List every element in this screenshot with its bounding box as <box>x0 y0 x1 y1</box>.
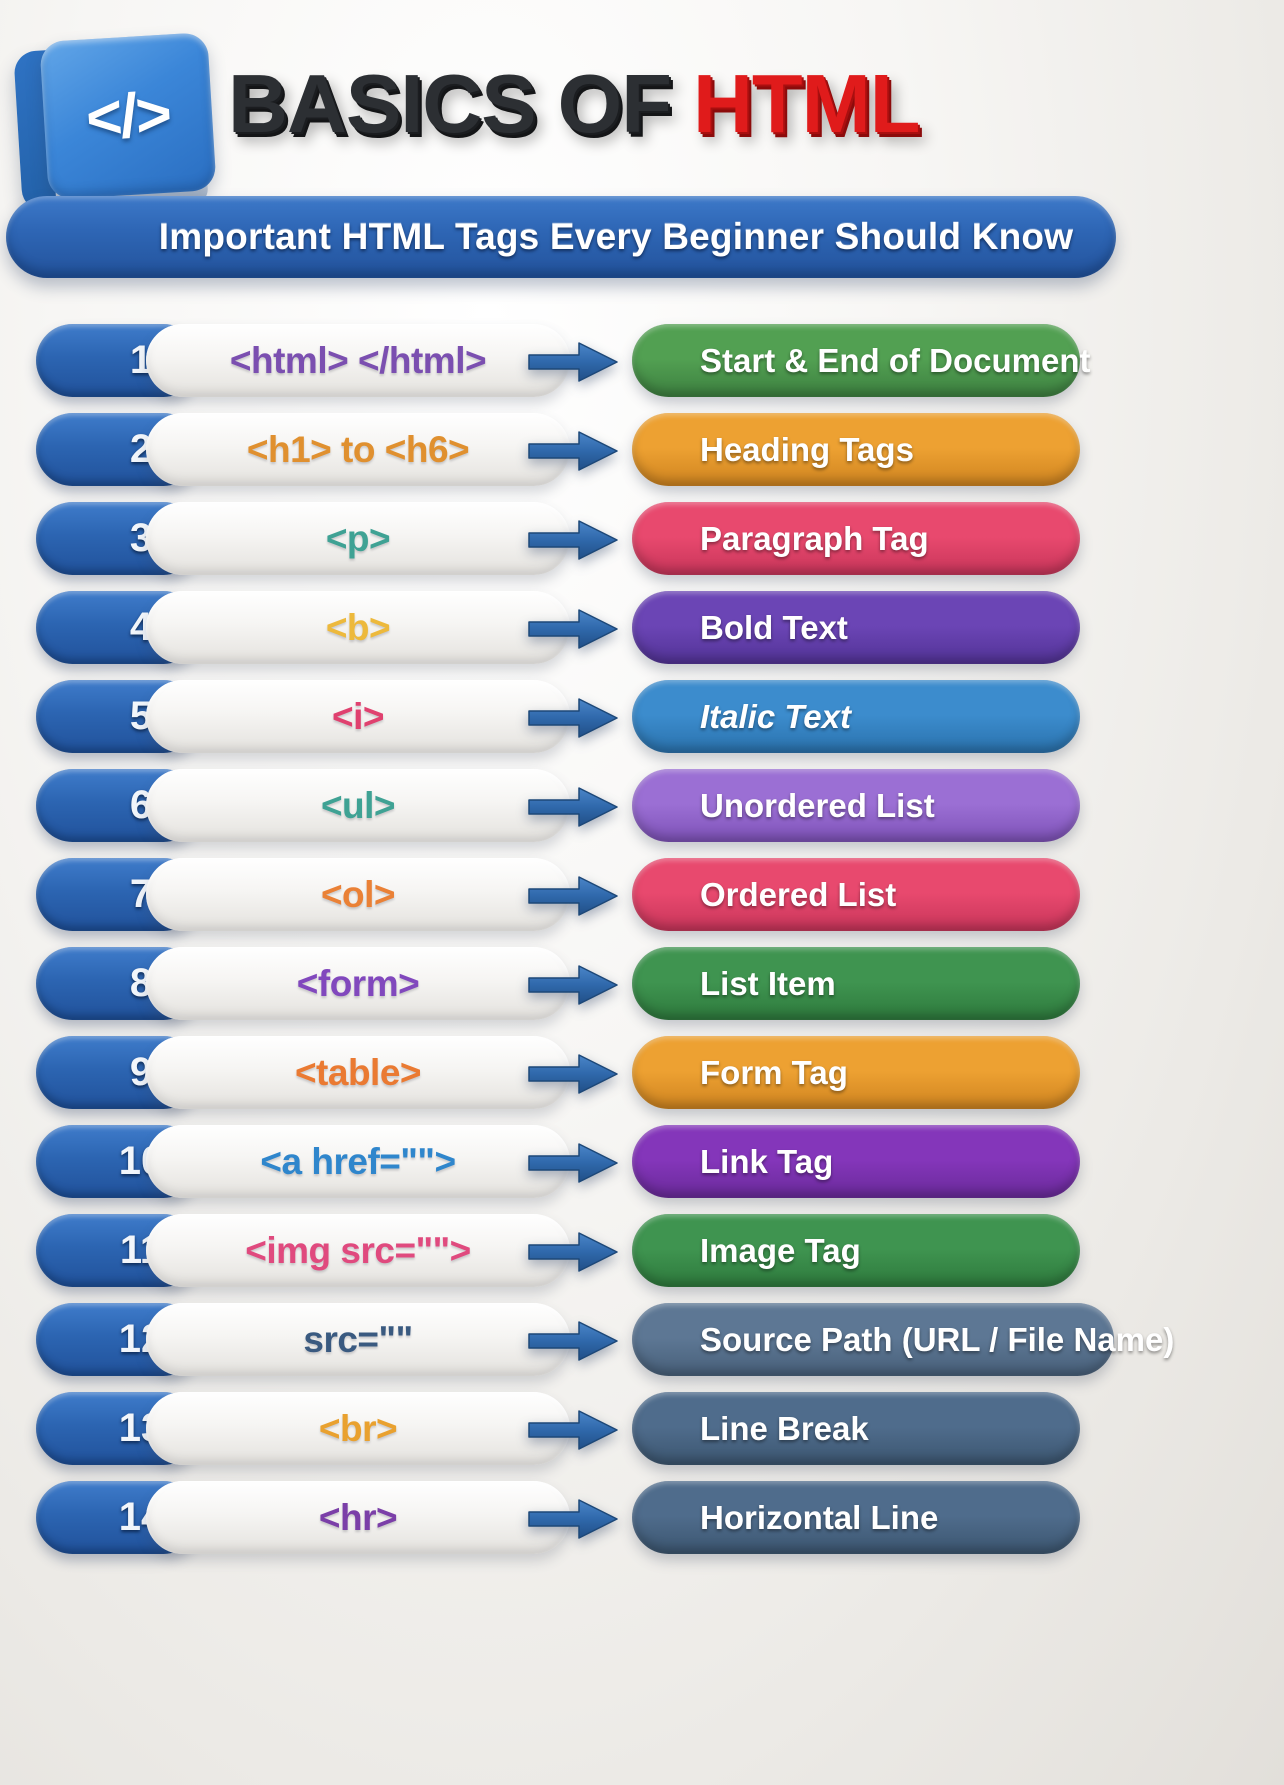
arrow-right-icon <box>527 1319 619 1363</box>
tag-row: 4<b>Bold Text <box>0 585 1284 674</box>
tag-code-text: <br> <box>319 1408 397 1450</box>
tag-description-pill[interactable]: List Item <box>632 947 1080 1020</box>
tag-description-pill[interactable]: Bold Text <box>632 591 1080 664</box>
tag-description-pill[interactable]: Paragraph Tag <box>632 502 1080 575</box>
tag-description-text: Link Tag <box>632 1143 833 1181</box>
arrow-right-icon <box>527 1141 619 1185</box>
tag-description-text: Heading Tags <box>632 431 914 469</box>
tag-description-pill[interactable]: Heading Tags <box>632 413 1080 486</box>
arrow-right-icon <box>527 963 619 1007</box>
tag-code-text: <img src=""> <box>245 1230 471 1272</box>
tag-code-pill[interactable]: <form> <box>146 947 570 1020</box>
arrow-right-icon <box>527 607 619 651</box>
tag-code-pill[interactable]: <html> </html> <box>146 324 570 397</box>
tag-row: 1<html> </html>Start & End of Document <box>0 318 1284 407</box>
tag-code-pill[interactable]: <a href=""> <box>146 1125 570 1198</box>
subtitle-banner: Important HTML Tags Every Beginner Shoul… <box>6 196 1116 278</box>
tag-code-text: <ul> <box>321 785 395 827</box>
arrow-right-icon <box>527 1408 619 1452</box>
row-number-text: 8 <box>84 961 152 1006</box>
arrow-right-icon <box>527 1497 619 1541</box>
tag-code-text: <i> <box>332 696 384 738</box>
tag-code-text: <p> <box>326 518 390 560</box>
row-number-text: 4 <box>84 605 152 650</box>
tag-code-pill[interactable]: <ul> <box>146 769 570 842</box>
tag-description-pill[interactable]: Italic Text <box>632 680 1080 753</box>
tag-row: 13<br>Line Break <box>0 1386 1284 1475</box>
tag-description-pill[interactable]: Line Break <box>632 1392 1080 1465</box>
tag-code-pill[interactable]: <br> <box>146 1392 570 1465</box>
title-basics-of: BASICS OF <box>228 57 693 150</box>
code-book-icon: </> <box>18 33 214 218</box>
tag-code-text: <a href=""> <box>260 1141 455 1183</box>
arrow-right-icon <box>527 1230 619 1274</box>
tag-row: 10<a href="">Link Tag <box>0 1119 1284 1208</box>
tag-description-pill[interactable]: Ordered List <box>632 858 1080 931</box>
arrow-right-icon <box>527 874 619 918</box>
tag-list: 1<html> </html>Start & End of Document2<… <box>0 318 1284 1564</box>
tag-row: 8<form>List Item <box>0 941 1284 1030</box>
tag-code-pill[interactable]: src="" <box>146 1303 570 1376</box>
header: </> BASICS OF HTML Important HTML Tags E… <box>0 0 1284 300</box>
tag-code-pill[interactable]: <table> <box>146 1036 570 1109</box>
tag-description-text: Line Break <box>632 1410 869 1448</box>
tag-code-pill[interactable]: <hr> <box>146 1481 570 1554</box>
arrow-right-icon <box>527 696 619 740</box>
tag-row: 2<h1> to <h6>Heading Tags <box>0 407 1284 496</box>
tag-code-text: <html> </html> <box>230 340 486 382</box>
tag-description-text: Ordered List <box>632 876 896 914</box>
tag-code-pill[interactable]: <ol> <box>146 858 570 931</box>
code-glyph: </> <box>39 32 216 200</box>
tag-code-text: <b> <box>326 607 390 649</box>
tag-code-pill[interactable]: <i> <box>146 680 570 753</box>
tag-row: 9<table>Form Tag <box>0 1030 1284 1119</box>
tag-code-pill[interactable]: <b> <box>146 591 570 664</box>
row-number-text: 5 <box>84 694 152 739</box>
tag-code-pill[interactable]: <p> <box>146 502 570 575</box>
tag-row: 12src=""Source Path (URL / File Name) <box>0 1297 1284 1386</box>
tag-description-text: Bold Text <box>632 609 848 647</box>
tag-description-text: List Item <box>632 965 836 1003</box>
tag-code-text: <ol> <box>321 874 395 916</box>
tag-code-text: <hr> <box>319 1497 397 1539</box>
page-title: BASICS OF HTML <box>228 62 919 145</box>
tag-code-text: <form> <box>297 963 419 1005</box>
row-number-text: 3 <box>84 516 152 561</box>
row-number-text: 7 <box>84 872 152 917</box>
tag-description-pill[interactable]: Horizontal Line <box>632 1481 1080 1554</box>
row-number-text: 9 <box>84 1050 152 1095</box>
tag-code-text: src="" <box>303 1319 412 1361</box>
tag-code-text: <h1> to <h6> <box>247 429 469 471</box>
tag-row: 7<ol>Ordered List <box>0 852 1284 941</box>
tag-description-pill[interactable]: Link Tag <box>632 1125 1080 1198</box>
tag-description-text: Horizontal Line <box>632 1499 938 1537</box>
tag-code-pill[interactable]: <h1> to <h6> <box>146 413 570 486</box>
tag-description-pill[interactable]: Source Path (URL / File Name) <box>632 1303 1114 1376</box>
tag-description-pill[interactable]: Unordered List <box>632 769 1080 842</box>
tag-description-text: Source Path (URL / File Name) <box>632 1321 1174 1359</box>
tag-description-text: Unordered List <box>632 787 935 825</box>
arrow-right-icon <box>527 1052 619 1096</box>
arrow-right-icon <box>527 340 619 384</box>
tag-description-pill[interactable]: Form Tag <box>632 1036 1080 1109</box>
tag-description-text: Paragraph Tag <box>632 520 929 558</box>
tag-row: 5<i>Italic Text <box>0 674 1284 763</box>
tag-code-text: <table> <box>295 1052 421 1094</box>
tag-description-pill[interactable]: Image Tag <box>632 1214 1080 1287</box>
arrow-right-icon <box>527 785 619 829</box>
tag-description-text: Start & End of Document <box>632 342 1091 380</box>
row-number-text: 6 <box>84 783 152 828</box>
tag-description-text: Form Tag <box>632 1054 848 1092</box>
tag-description-text: Image Tag <box>632 1232 861 1270</box>
tag-description-text: Italic Text <box>632 698 851 736</box>
subtitle-text: Important HTML Tags Every Beginner Shoul… <box>49 216 1073 258</box>
tag-description-pill[interactable]: Start & End of Document <box>632 324 1080 397</box>
title-html: HTML <box>693 57 919 150</box>
tag-row: 6<ul>Unordered List <box>0 763 1284 852</box>
tag-row: 11<img src="">Image Tag <box>0 1208 1284 1297</box>
row-number-text: 1 <box>84 338 152 383</box>
row-number-text: 2 <box>84 427 152 472</box>
arrow-right-icon <box>527 429 619 473</box>
tag-row: 3<p>Paragraph Tag <box>0 496 1284 585</box>
tag-row: 14<hr>Horizontal Line <box>0 1475 1284 1564</box>
arrow-right-icon <box>527 518 619 562</box>
tag-code-pill[interactable]: <img src=""> <box>146 1214 570 1287</box>
